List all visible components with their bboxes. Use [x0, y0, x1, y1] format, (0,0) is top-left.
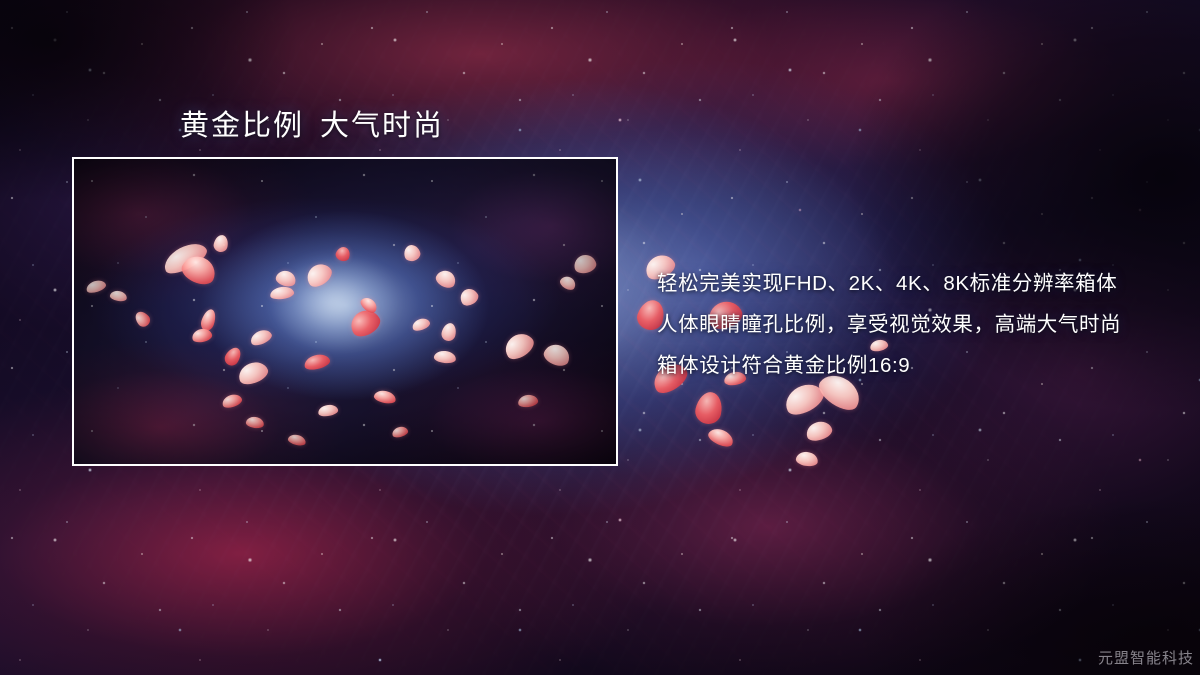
- petal: [706, 425, 736, 449]
- body-line: 人体眼睛瞳孔比例，享受视觉效果，高端大气时尚: [657, 304, 1177, 345]
- petal: [795, 451, 819, 468]
- body-text-block: 轻松完美实现FHD、2K、4K、8K标准分辨率箱体 人体眼睛瞳孔比例，享受视觉效…: [657, 263, 1177, 386]
- page-title: 黄金比例大气时尚: [180, 102, 444, 144]
- body-line: 轻松完美实现FHD、2K、4K、8K标准分辨率箱体: [657, 263, 1177, 304]
- presentation-slide: 黄金比例大气时尚: [0, 0, 1200, 675]
- title-phrase-one: 黄金比例: [180, 110, 304, 142]
- petal: [804, 418, 834, 443]
- petal: [693, 390, 725, 427]
- framed-image-panel[interactable]: [72, 157, 618, 466]
- title-phrase-two: 大气时尚: [320, 110, 444, 142]
- watermark-label: 元盟智能科技: [1098, 647, 1194, 668]
- panel-vignette: [74, 159, 616, 464]
- body-line: 箱体设计符合黄金比例16:9: [657, 345, 1177, 386]
